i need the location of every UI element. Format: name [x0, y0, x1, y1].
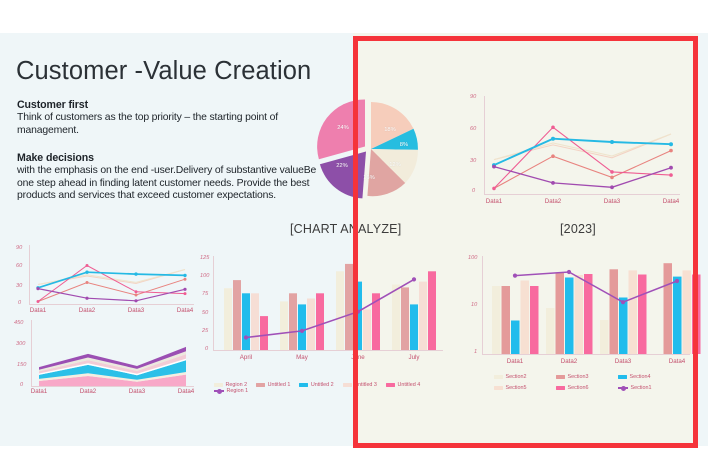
- legend-item-untitled-1[interactable]: Untitled 1: [256, 382, 290, 388]
- line-chart-bottom-left-svg: [16, 247, 196, 305]
- bars-may: [280, 293, 324, 350]
- bar-chart-center-svg: [200, 258, 444, 352]
- legend-label: Section1: [631, 385, 652, 391]
- x-label-data1: Data1: [507, 358, 524, 365]
- bars-data1: [492, 281, 539, 355]
- x-label-june: June: [351, 354, 364, 361]
- x-label-data2: Data2: [79, 307, 96, 314]
- legend-label: Untitled 1: [268, 382, 291, 388]
- legend-swatch-icon: [256, 383, 265, 387]
- series-cream-line: [494, 134, 671, 160]
- series-markers: [492, 126, 673, 191]
- legend-label: Section3: [568, 374, 589, 380]
- line-chart-bottom-left[interactable]: 90 60 30 0 Data1 Data2 Data3 Data4: [16, 247, 206, 315]
- bars-data2: [546, 272, 593, 354]
- bar-chart-bottom-right[interactable]: 100 10 1: [468, 258, 708, 398]
- block-heading: Customer first: [17, 99, 317, 111]
- legend-swatch-icon: [618, 375, 627, 379]
- legend-label: Untitled 2: [311, 382, 334, 388]
- legend-item-section5[interactable]: Section5: [494, 385, 556, 391]
- series-pink-line: [494, 127, 671, 188]
- region1-markers: [244, 277, 416, 339]
- legend-item-section2[interactable]: Section2: [494, 374, 556, 380]
- region1-line: [246, 279, 414, 337]
- pie-chart-svg: [312, 93, 430, 211]
- series-blush-line: [494, 134, 671, 160]
- block-body: with the emphasis on the end -user.Deliv…: [17, 165, 317, 203]
- x-label-data4: Data4: [669, 358, 686, 365]
- x-label-data1: Data1: [30, 307, 47, 314]
- series-blush-line: [38, 270, 185, 285]
- legend-item-untitled-3[interactable]: Untitled 3: [343, 382, 377, 388]
- text-block-make-decisions: Make decisions with the emphasis on the …: [17, 152, 317, 203]
- x-label-april: April: [240, 354, 252, 361]
- legend-label: Section6: [568, 385, 589, 391]
- x-label-data3: Data3: [129, 388, 146, 395]
- text-block-customer-first: Customer first Think of customers as the…: [17, 99, 317, 137]
- pie-chart[interactable]: 18% 8% 12% 16% 22% 24%: [312, 93, 430, 211]
- line-chart-top-right-svg: [470, 96, 680, 196]
- legend-label: Section5: [506, 385, 527, 391]
- legend-label: Section2: [506, 374, 527, 380]
- x-label-data3: Data3: [615, 358, 632, 365]
- series-markers: [36, 264, 186, 303]
- bottom-white-strip: [0, 446, 708, 472]
- area-chart-svg: [16, 322, 196, 388]
- block-heading: Make decisions: [17, 152, 317, 164]
- bars-data4: [664, 263, 701, 354]
- series-purple-line: [494, 167, 671, 188]
- series-cream-line: [38, 270, 185, 285]
- series-pink-line: [38, 266, 185, 302]
- x-label-may: May: [296, 354, 308, 361]
- legend-line-marker-icon: [214, 390, 224, 392]
- legend-item-section6[interactable]: Section6: [556, 385, 618, 391]
- x-label-data4: Data4: [177, 307, 194, 314]
- x-label-data3: Data3: [128, 307, 145, 314]
- legend-swatch-icon: [299, 383, 308, 387]
- pie-slice-22-group[interactable]: [320, 152, 366, 199]
- legend-line-marker-icon: [618, 387, 628, 389]
- bars-june: [336, 264, 380, 350]
- line-chart-top-right[interactable]: 90 60 30 0 Data1 Data2 Data3 Data4: [470, 96, 695, 216]
- legend-item-untitled-2[interactable]: Untitled 2: [299, 382, 333, 388]
- legend-swatch-icon: [556, 375, 565, 379]
- bars-data3: [600, 269, 647, 354]
- x-label-july: July: [408, 354, 419, 361]
- x-label-data3: Data3: [604, 198, 621, 205]
- legend-swatch-icon: [494, 375, 503, 379]
- bars-july: [392, 271, 436, 350]
- legend-label: Untitled 4: [397, 382, 420, 388]
- x-label-data2: Data2: [545, 198, 562, 205]
- x-label-data4: Data4: [178, 388, 195, 395]
- line-chart-top-right-caption: [2023]: [560, 222, 596, 236]
- x-label-data2: Data2: [561, 358, 578, 365]
- bar-chart-bottom-right-svg: [468, 258, 694, 356]
- legend-item-region-1[interactable]: Region 1: [214, 388, 248, 394]
- bar-chart-center-legend: Region 2 Untitled 1 Untitled 2 Untitled …: [214, 382, 454, 394]
- bar-chart-bottom-right-legend: Section2 Section3 Section4 Section5 Sect…: [494, 374, 694, 391]
- legend-swatch-icon: [386, 383, 395, 387]
- page-title: Customer -Value Creation: [16, 57, 311, 86]
- legend-swatch-icon: [494, 386, 503, 390]
- x-label-data1: Data1: [31, 388, 48, 395]
- legend-item-untitled-4[interactable]: Untitled 4: [386, 382, 420, 388]
- pie-chart-caption: [CHART ANALYZE]: [290, 222, 401, 236]
- series-salmon-line: [38, 279, 185, 301]
- legend-label: Region 1: [227, 388, 249, 394]
- pie-label-16: 16%: [363, 175, 375, 181]
- x-label-data1: Data1: [486, 198, 503, 205]
- block-body: Think of customers as the top priority –…: [17, 112, 317, 137]
- legend-item-section3[interactable]: Section3: [556, 374, 618, 380]
- legend-swatch-icon: [214, 383, 223, 387]
- pie-label-18: 18%: [384, 127, 396, 133]
- series-salmon-line: [494, 151, 671, 189]
- legend-swatch-icon: [556, 386, 565, 390]
- section1-line: [515, 272, 677, 302]
- bar-chart-center[interactable]: 125 100 75 50 25 0: [200, 258, 450, 398]
- legend-item-section1[interactable]: Section1: [618, 385, 680, 391]
- legend-label: Untitled 3: [354, 382, 377, 388]
- pie-label-8: 8%: [400, 142, 408, 148]
- x-label-data4: Data4: [663, 198, 680, 205]
- x-label-data2: Data2: [80, 388, 97, 395]
- pie-label-22: 22%: [336, 163, 348, 169]
- pie-label-12: 12%: [389, 162, 401, 168]
- area-chart-bottom-left[interactable]: 450 300 150 0 Data1 Data2 Data3 Data4: [16, 322, 206, 394]
- pie-label-24: 24%: [337, 125, 349, 131]
- series-purple-line: [38, 289, 185, 301]
- legend-label: Section4: [630, 374, 651, 380]
- legend-item-section4[interactable]: Section4: [618, 374, 680, 380]
- legend-swatch-icon: [343, 383, 352, 387]
- pie-slice-22[interactable]: [320, 152, 366, 199]
